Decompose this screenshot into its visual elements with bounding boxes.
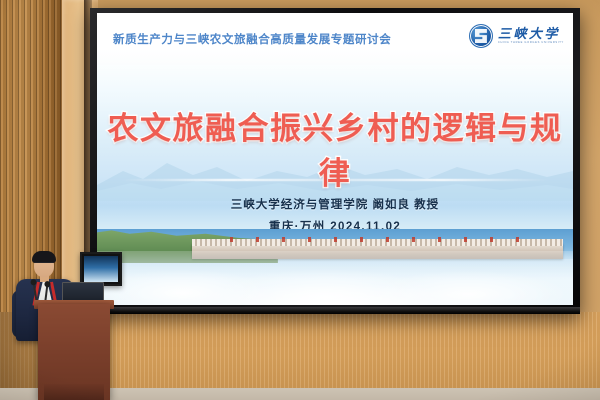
conference-photo-scene: 新质生产力与三峡农文旅融合高质量发展专题研讨会 三峡大学 CHINA THREE… xyxy=(0,0,600,400)
slide-header-title: 新质生产力与三峡农文旅融合高质量发展专题研讨会 xyxy=(113,31,391,47)
university-name-cn: 三峡大学 xyxy=(498,27,564,40)
university-name-en: CHINA THREE GORGES UNIVERSITY xyxy=(498,42,564,45)
university-emblem-icon xyxy=(469,24,493,48)
speaker-and-podium xyxy=(6,246,116,400)
slide-content: 新质生产力与三峡农文旅融合高质量发展专题研讨会 三峡大学 CHINA THREE… xyxy=(97,13,573,305)
slide-main-title: 农文旅融合振兴乡村的逻辑与规律 xyxy=(97,103,573,193)
slide-presenter-line: 三峡大学经济与管理学院 阚如良 教授 xyxy=(97,196,573,212)
speaker-glasses-icon xyxy=(35,262,53,267)
slide-main-title-text: 农文旅融合振兴乡村的逻辑与规律 xyxy=(108,111,563,192)
university-logo: 三峡大学 CHINA THREE GORGES UNIVERSITY xyxy=(469,24,564,48)
dam-red-cranes xyxy=(230,237,525,242)
university-logo-text: 三峡大学 CHINA THREE GORGES UNIVERSITY xyxy=(498,27,564,45)
dam-cloud-sea xyxy=(97,251,573,305)
slide-header-bar: 新质生产力与三峡农文旅融合高质量发展专题研讨会 三峡大学 CHINA THREE… xyxy=(97,13,573,65)
three-gorges-dam-photo xyxy=(97,229,573,305)
podium-base xyxy=(44,384,104,400)
presentation-screen: 新质生产力与三峡农文旅融合高质量发展专题研讨会 三峡大学 CHINA THREE… xyxy=(90,8,580,314)
